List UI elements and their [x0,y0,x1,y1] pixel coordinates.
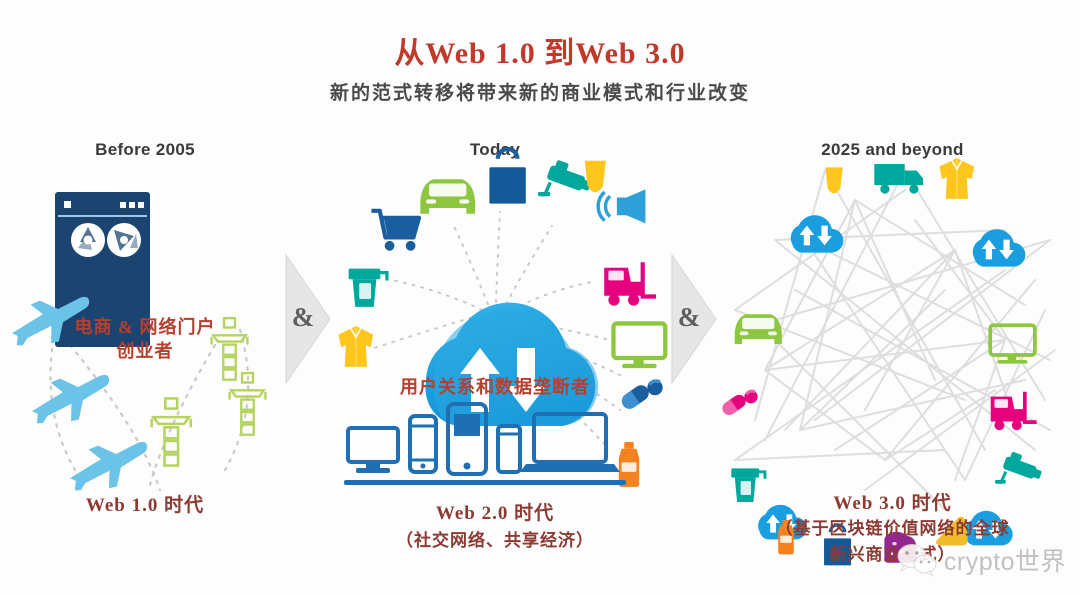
web1-role-line1: 电商 & 网络门户 [30,315,260,339]
infographic-canvas: 从Web 1.0 到Web 3.0 新的范式转移将带来新的商业模式和行业改变 B… [0,0,1080,596]
separator-arrow-1: & [286,255,334,383]
separator-ampersand-2: & [674,302,704,333]
cell-tower-icon [152,398,191,465]
device-baseline [344,480,626,485]
coffee-machine-icon [349,269,387,307]
airplane-icon [27,369,116,429]
web2-era-title: Web 2.0 时代 [330,498,660,525]
airplane-icon [65,436,154,496]
forklift-icon [604,262,656,305]
monitor-icon [613,323,665,368]
car-icon [420,179,475,214]
tag-icon [825,167,842,193]
separator-ampersand-1: & [288,302,318,333]
wechat-logo-icon [897,543,937,577]
panel-today: Today [330,130,660,580]
panel-before-2005: Before 2005 [0,130,290,580]
jacket-icon [338,326,373,367]
forklift-icon [991,392,1037,430]
web3-era-subtitle-line1: （基于区块链价值网络的全球 [705,514,1080,539]
megaphone-icon [598,189,645,223]
page-subtitle: 新的范式转移将带来新的商业模式和行业改变 [0,78,1080,105]
web1-role-line2: 创业者 [30,339,260,363]
page-title: 从Web 1.0 到Web 3.0 [0,28,1080,72]
car-icon [735,314,782,344]
web1-role-label: 电商 & 网络门户 创业者 [30,315,260,364]
jacket-icon [939,158,974,199]
cloud-sync-icon [973,229,1026,266]
desktop-monitor-icon [348,428,398,473]
globe-icon [107,223,141,257]
truck-icon [874,164,923,194]
smartphone-icon [410,416,436,472]
web1-era-title: Web 1.0 时代 [0,490,290,517]
small-phone-icon [498,426,520,472]
cell-tower-icon [230,373,266,435]
shopping-bag-icon [489,149,525,204]
panel-2025-and-beyond: 2025 and beyond [705,130,1080,580]
web2-role-label: 用户关系和数据垄断者 [345,375,645,399]
watermark-text: crypto世界 [944,542,1066,578]
shopping-cart-icon [371,211,419,251]
web3-era-title: Web 3.0 时代 [705,488,1080,515]
web2-era-subtitle: （社交网络、共享经济） [330,526,660,551]
cloud-sync-icon [791,215,844,252]
watermark: crypto世界 [897,542,1066,578]
web2-role-line1: 用户关系和数据垄断者 [345,375,645,399]
separator-arrow-2: & [672,255,720,383]
security-camera-icon [995,450,1045,483]
pills-icon [720,390,758,417]
cloud-sync-icon [425,303,598,426]
globe-icon [71,223,105,257]
